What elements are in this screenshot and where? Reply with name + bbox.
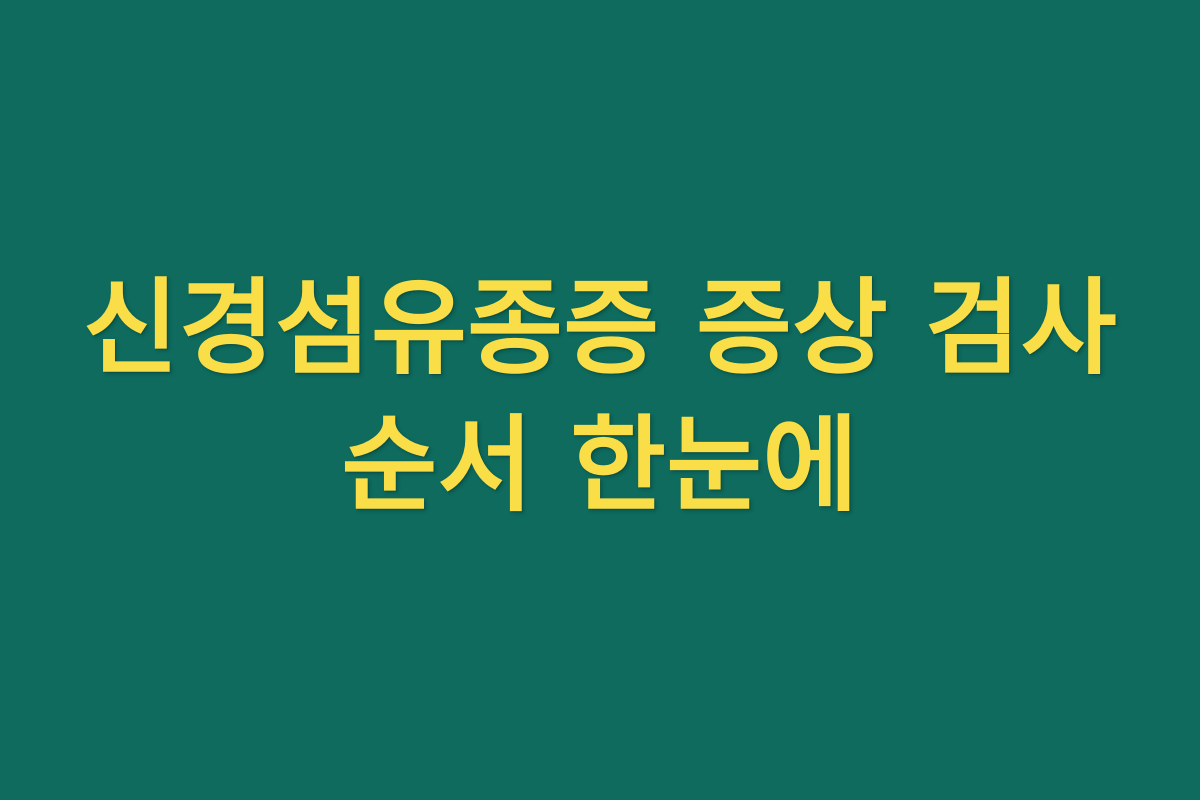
headline-line-2: 순서 한눈에 bbox=[40, 397, 1160, 534]
headline-line-1: 신경섬유종증 증상 검사 bbox=[40, 260, 1160, 397]
headline-block: 신경섬유종증 증상 검사 순서 한눈에 bbox=[40, 260, 1160, 535]
poster-canvas: 신경섬유종증 증상 검사 순서 한눈에 bbox=[0, 0, 1200, 800]
